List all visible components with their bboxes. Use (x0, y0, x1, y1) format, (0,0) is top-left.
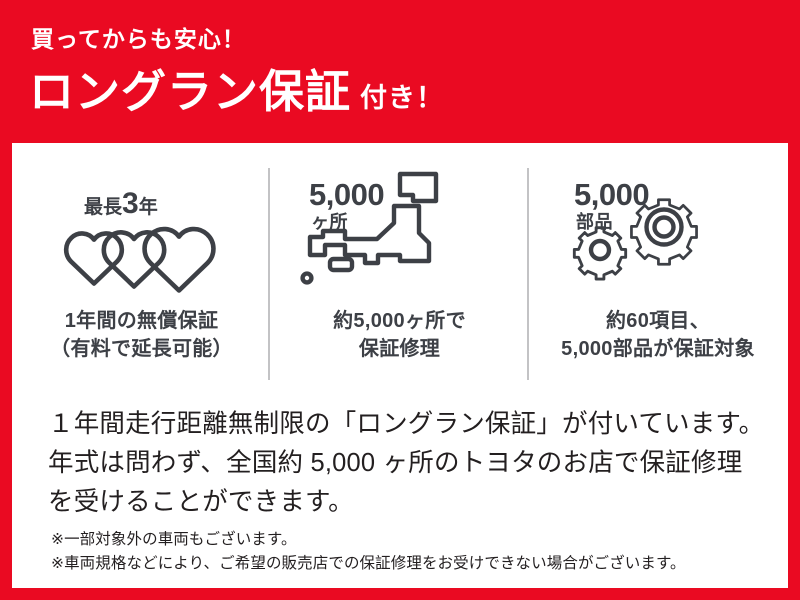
banner-header: 買ってからも安心！ ロングラン保証 付き！ (0, 0, 800, 143)
japan-map-icon (299, 169, 449, 289)
header-title-suffix: 付き！ (360, 85, 444, 114)
header-title-main: ロングラン保証 (29, 69, 351, 114)
gears-icon-zone: 5,000 部品 (530, 155, 786, 305)
feature-columns: 最長3年 1年間の無償保証 （有料で延長可能） (12, 155, 788, 383)
japan-map-icon-zone: 5,000 ヶ所 (271, 155, 528, 305)
feature-column-warranty-period: 最長3年 1年間の無償保証 （有料で延長可能） (14, 155, 269, 383)
feature-3-caption-line2: 5,000部品が保証対象 (530, 335, 786, 363)
feature-1-caption-line2: （有料で延長可能） (14, 335, 269, 363)
feature-1-count-prefix: 最長 (84, 197, 122, 218)
feature-2-caption-line1: 約5,000ヶ所で (271, 307, 528, 335)
feature-column-covered-parts: 5,000 部品 (530, 155, 786, 383)
feature-1-count-suffix: 年 (139, 197, 158, 218)
feature-1-count-number: 3 (122, 187, 139, 220)
footnote-1: ※一部対象外の車両もございます。 (51, 528, 781, 552)
feature-column-service-locations: 5,000 ヶ所 (271, 155, 528, 383)
feature-3-caption: 約60項目、 5,000部品が保証対象 (530, 307, 786, 364)
feature-2-caption: 約5,000ヶ所で 保証修理 (271, 307, 528, 364)
gears-icon (572, 179, 732, 291)
feature-1-caption: 1年間の無償保証 （有料で延長可能） (14, 307, 269, 364)
long-run-warranty-banner: 買ってからも安心！ ロングラン保証 付き！ 最長3年 (0, 0, 800, 600)
feature-1-count: 最長3年 (84, 189, 158, 219)
content-panel: 最長3年 1年間の無償保証 （有料で延長可能） (12, 143, 788, 588)
three-hearts-icon (62, 223, 222, 299)
footnotes: ※一部対象外の車両もございます。 ※車両規格などにより、ご希望の販売店での保証修… (51, 528, 781, 576)
feature-2-caption-line2: 保証修理 (271, 335, 528, 363)
warranty-description: １年間走行距離無制限の「ロングラン保証」が付いています。年式は問わず、全国約 5… (48, 405, 768, 521)
header-kicker: 買ってからも安心！ (31, 28, 246, 51)
header-title-row: ロングラン保証 付き！ (29, 69, 444, 114)
footnote-2: ※車両規格などにより、ご希望の販売店での保証修理をお受けできない場合がございます… (51, 552, 781, 576)
hearts-icon-zone: 最長3年 (14, 155, 269, 305)
feature-3-caption-line1: 約60項目、 (530, 307, 786, 335)
feature-1-caption-line1: 1年間の無償保証 (14, 307, 269, 335)
